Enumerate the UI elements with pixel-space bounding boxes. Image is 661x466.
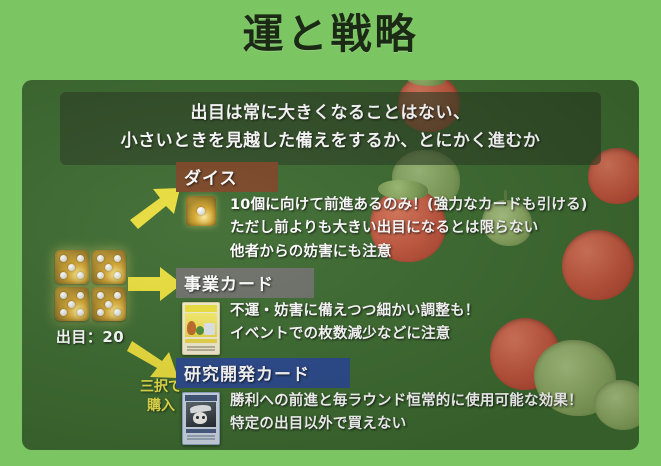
- card-title-bar: [185, 395, 217, 401]
- die-pip: [97, 272, 104, 279]
- card-text-line: [187, 438, 215, 440]
- section-dice-line-2: ただし前よりも大きい出目になるとは限らない: [230, 217, 588, 240]
- card-art-shape: [196, 416, 199, 419]
- section-business-line-2: イベントでの枚数減少などに注意: [230, 323, 479, 346]
- dice-grid: [55, 250, 126, 321]
- subtitle-line-2: 小さいときを見越した備えをするか、とにかく進むか: [60, 128, 601, 156]
- page-title: 運と戦略: [0, 12, 661, 57]
- section-research-body: 勝利への前進と毎ラウンド恒常的に使用可能な効果！ 特定の出目以外で買えない: [176, 390, 628, 445]
- slide-root: 運と戦略 出目は常に大きくなることはない、 小さいときを見越した備えをするか、と…: [0, 0, 661, 466]
- content-panel: 出目は常に大きくなることはない、 小さいときを見越した備えをするか、とにかく進む…: [22, 80, 639, 450]
- die-pip: [114, 292, 121, 299]
- decor-tomato-top-right-leaf: [406, 80, 446, 86]
- section-dice-lines: 10個に向けて前進あるのみ！(強力なカードも引ける) ただし前よりも大きい出目に…: [226, 194, 588, 264]
- card-text-line: [187, 435, 215, 437]
- section-dice-header: ダイス: [176, 162, 278, 192]
- die-pip: [68, 301, 75, 308]
- section-business-header: 事業カード: [176, 268, 314, 298]
- section-business-body: 不運・妨害に備えつつ細かい調整も！ イベントでの枚数減少などに注意: [176, 300, 628, 355]
- die-pip: [60, 255, 67, 262]
- section-business-line-1: 不運・妨害に備えつつ細かい調整も！: [230, 300, 479, 323]
- die-4: [92, 287, 126, 321]
- subtitle-box: 出目は常に大きくなることはない、 小さいときを見越した備えをするか、とにかく進む…: [60, 92, 601, 165]
- section-business-lines: 不運・妨害に備えつつ細かい調整も！ イベントでの枚数減少などに注意: [226, 300, 479, 347]
- section-dice: ダイス 10個に向けて前進あるのみ！(強力なカードも引ける) ただし前よりも大き…: [176, 162, 628, 264]
- section-dice-body: 10個に向けて前進あるのみ！(強力なカードも引ける) ただし前よりも大きい出目に…: [176, 194, 628, 264]
- die-pip: [97, 292, 104, 299]
- card-text-bar: [186, 429, 216, 433]
- section-business: 事業カード 不運・妨害に備えつつ細かい調整も！: [176, 268, 628, 355]
- card-text-bar: [185, 339, 217, 343]
- die-pip: [77, 292, 84, 299]
- die-pip: [97, 255, 104, 262]
- card-art-shape: [196, 326, 204, 335]
- card-art-shape: [187, 321, 196, 335]
- section-business-thumb-wrap: [176, 300, 226, 355]
- business-card-icon: [182, 302, 220, 355]
- die-pip: [77, 272, 84, 279]
- section-dice-thumb-wrap: [176, 194, 226, 226]
- die-pip: [77, 255, 84, 262]
- research-card-icon: [182, 392, 220, 445]
- die-pip: [60, 272, 67, 279]
- section-research-line-1: 勝利への前進と毎ラウンド恒常的に使用可能な効果！: [230, 390, 583, 413]
- die-pip: [114, 255, 121, 262]
- card-text-line: [187, 349, 215, 351]
- section-research-lines: 勝利への前進と毎ラウンド恒常的に使用可能な効果！ 特定の出目以外で買えない: [226, 390, 583, 437]
- die-3: [55, 287, 89, 321]
- die-pip: [105, 301, 112, 308]
- die-pip: [114, 309, 121, 316]
- die-pip: [114, 272, 121, 279]
- dice-cluster: 出目：20: [42, 250, 138, 347]
- dice-total-label: 出目：20: [42, 326, 138, 347]
- die-pip: [105, 264, 112, 271]
- die-pip: [68, 264, 75, 271]
- subtitle-line-1: 出目は常に大きくなることはない、: [60, 100, 601, 128]
- die-pip: [60, 309, 67, 316]
- die-1: [55, 250, 89, 284]
- section-research-thumb-wrap: [176, 390, 226, 445]
- section-dice-line-1: 10個に向けて前進あるのみ！(強力なカードも引ける): [230, 194, 588, 217]
- section-research: 研究開発カード 勝利への前進と毎ラ: [176, 358, 628, 445]
- die-pip: [77, 309, 84, 316]
- die-pip: [97, 309, 104, 316]
- card-art-shape: [204, 323, 215, 335]
- card-text-line: [187, 346, 215, 348]
- section-dice-line-3: 他者からの妨害にも注意: [230, 241, 588, 264]
- die-2: [92, 250, 126, 284]
- die-pip: [60, 292, 67, 299]
- die-icon: [186, 196, 216, 226]
- card-art-shape: [202, 416, 205, 419]
- die-pip: [197, 207, 205, 215]
- section-research-header: 研究開発カード: [176, 358, 350, 388]
- card-title-bar: [185, 305, 217, 312]
- section-research-line-2: 特定の出目以外で買えない: [230, 413, 583, 436]
